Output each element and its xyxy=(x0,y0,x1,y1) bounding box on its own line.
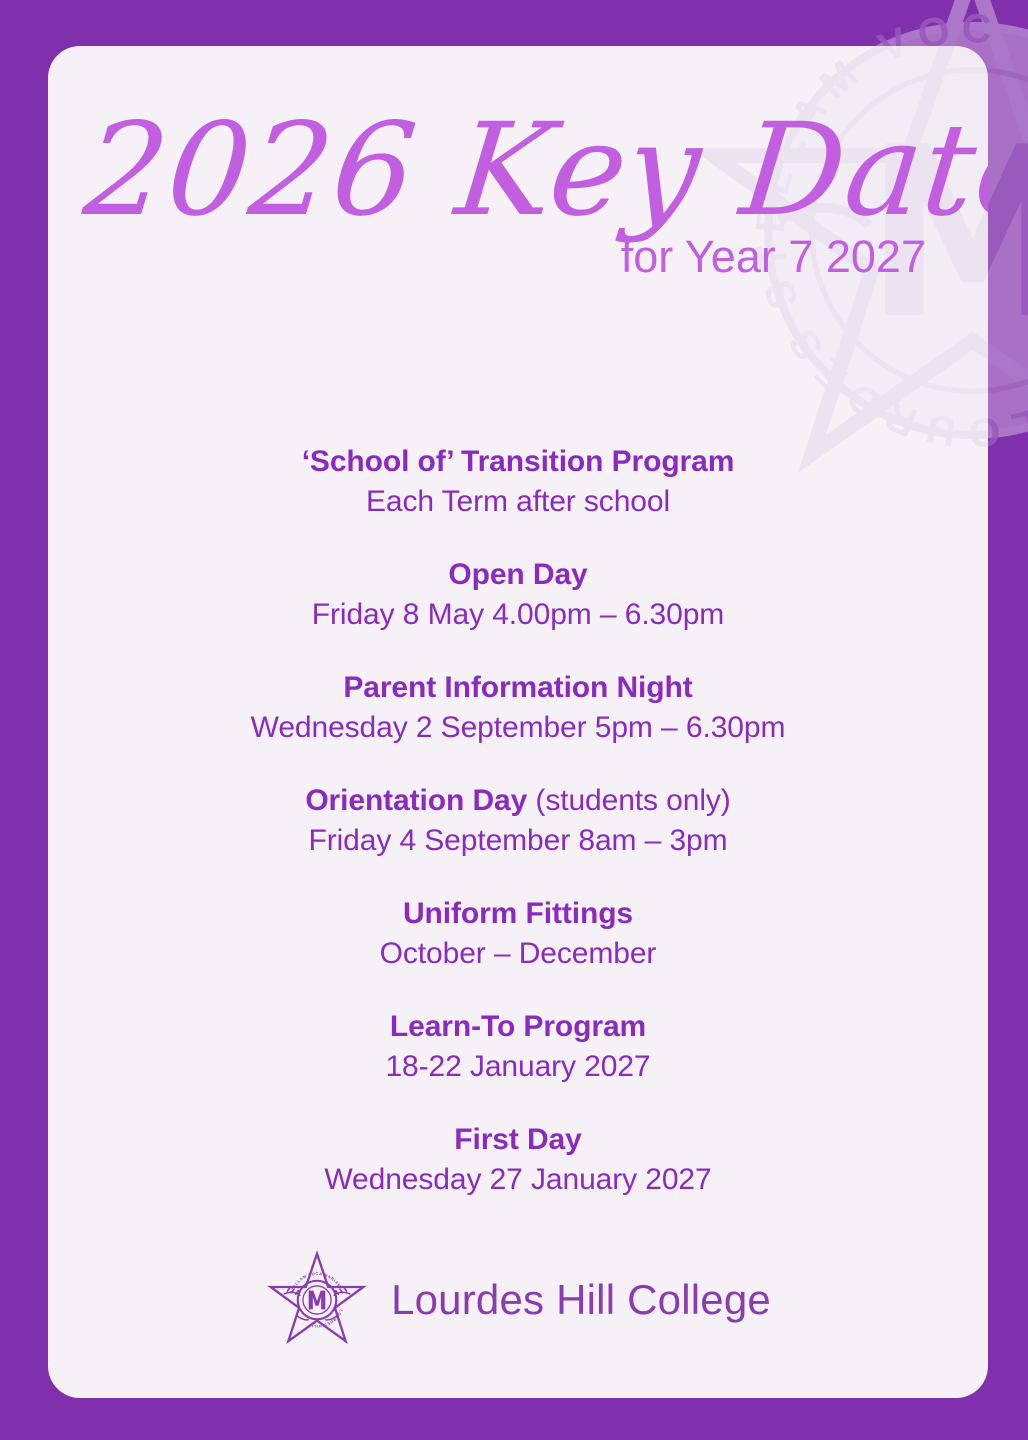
event-title: Uniform Fittings xyxy=(48,896,988,933)
poster-card: STELLAM VOC RE ICE · LOURDES 2026 Key Da xyxy=(48,46,988,1398)
page-title: 2026 Key Dates xyxy=(79,104,988,237)
event-title-note: (students only) xyxy=(527,784,731,817)
event-detail: Wednesday 2 September 5pm – 6.30pm xyxy=(48,709,988,747)
event-title: Learn-To Program xyxy=(48,1009,988,1046)
list-item: Orientation Day (students only) Friday 4… xyxy=(48,783,988,860)
list-item: Open Day Friday 8 May 4.00pm – 6.30pm xyxy=(48,557,988,634)
footer: STELLAM VOCA MARIAM LOURDES HILL Lourdes… xyxy=(48,1248,988,1352)
headline-block: 2026 Key Dates for Year 7 2027 xyxy=(48,104,988,283)
event-detail: Friday 8 May 4.00pm – 6.30pm xyxy=(48,596,988,634)
list-item: Learn-To Program 18-22 January 2027 xyxy=(48,1009,988,1086)
event-title-text: Parent Information Night xyxy=(343,671,692,704)
event-title-text: First Day xyxy=(454,1123,581,1156)
event-title-text: Open Day xyxy=(448,558,587,591)
event-title: ‘School of’ Transition Program xyxy=(48,444,988,481)
event-detail: Wednesday 27 January 2027 xyxy=(48,1161,988,1199)
event-title-text: Orientation Day xyxy=(305,784,527,817)
star-crest-logo-icon: STELLAM VOCA MARIAM LOURDES HILL xyxy=(265,1248,369,1352)
event-detail: 18-22 January 2027 xyxy=(48,1048,988,1086)
event-title: Parent Information Night xyxy=(48,670,988,707)
college-name: Lourdes Hill College xyxy=(391,1276,771,1324)
list-item: Uniform Fittings October – December xyxy=(48,896,988,973)
event-title: Open Day xyxy=(48,557,988,594)
event-title: Orientation Day (students only) xyxy=(48,783,988,820)
event-title-text: Uniform Fittings xyxy=(403,897,633,930)
event-title-text: Learn-To Program xyxy=(390,1010,646,1043)
list-item: ‘School of’ Transition Program Each Term… xyxy=(48,444,988,521)
event-detail: Each Term after school xyxy=(48,483,988,521)
poster-root: STELLAM VOC RE ICE · LOURDES xyxy=(0,0,1028,1440)
event-detail: October – December xyxy=(48,935,988,973)
list-item: First Day Wednesday 27 January 2027 xyxy=(48,1122,988,1199)
key-dates-list: ‘School of’ Transition Program Each Term… xyxy=(48,444,988,1199)
event-title-text: ‘School of’ Transition Program xyxy=(302,445,735,478)
list-item: Parent Information Night Wednesday 2 Sep… xyxy=(48,670,988,747)
event-title: First Day xyxy=(48,1122,988,1159)
event-detail: Friday 4 September 8am – 3pm xyxy=(48,822,988,860)
